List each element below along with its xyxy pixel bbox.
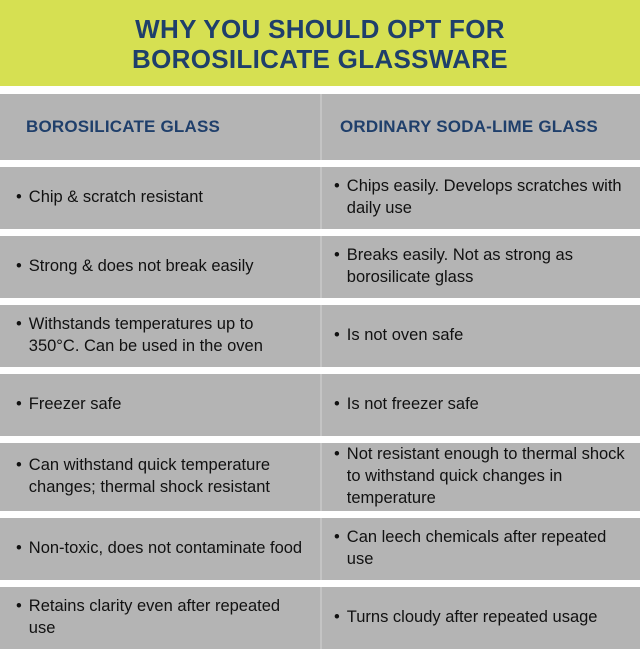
list-item-label: Turns cloudy after repeated usage [347,607,598,629]
table-cell-left: • Freezer safe [0,374,320,436]
bullet-icon: • [16,455,22,477]
list-item-label: Withstands temperatures up to 350°C. Can… [29,314,308,358]
bullet-icon: • [16,394,22,416]
list-item-label: Can withstand quick temperature changes;… [29,455,308,499]
bullet-icon: • [334,176,340,198]
bullet-icon: • [334,444,340,466]
table-row: • Withstands temperatures up to 350°C. C… [0,305,640,367]
table-cell-right: • Breaks easily. Not as strong as borosi… [320,236,640,298]
list-item: • Retains clarity even after repeated us… [16,596,308,640]
bullet-icon: • [16,187,22,209]
title-banner: WHY YOU SHOULD OPT FOR BOROSILICATE GLAS… [0,0,640,86]
table-cell-left: • Withstands temperatures up to 350°C. C… [0,305,320,367]
comparison-table: BOROSILICATE GLASS ORDINARY SODA-LIME GL… [0,94,640,649]
list-item-label: Is not freezer safe [347,394,479,416]
table-cell-right: • Not resistant enough to thermal shock … [320,443,640,511]
table-cell-left: • Chip & scratch resistant [0,167,320,229]
list-item: • Freezer safe [16,394,121,416]
list-item: • Is not freezer safe [334,394,479,416]
list-item-label: Not resistant enough to thermal shock to… [347,444,630,510]
list-item: • Chip & scratch resistant [16,187,203,209]
table-cell-right: • Is not freezer safe [320,374,640,436]
list-item-label: Strong & does not break easily [29,256,254,278]
list-item: • Can withstand quick temperature change… [16,455,308,499]
bullet-icon: • [16,256,22,278]
list-item-label: Is not oven safe [347,325,464,347]
table-cell-right: • Can leech chemicals after repeated use [320,518,640,580]
list-item-label: Retains clarity even after repeated use [29,596,308,640]
page-title-line-1: WHY YOU SHOULD OPT FOR [135,14,505,44]
list-item: • Turns cloudy after repeated usage [334,607,598,629]
list-item-label: Chips easily. Develops scratches with da… [347,176,630,220]
bullet-icon: • [334,527,340,549]
list-item: • Chips easily. Develops scratches with … [334,176,630,220]
bullet-icon: • [16,314,22,336]
page-title-line-2: BOROSILICATE GLASSWARE [132,44,508,74]
bullet-icon: • [334,607,340,629]
list-item-label: Non-toxic, does not contaminate food [29,538,302,560]
table-cell-right: • Is not oven safe [320,305,640,367]
table-cell-left: • Can withstand quick temperature change… [0,443,320,511]
bullet-icon: • [334,245,340,267]
infographic-root: WHY YOU SHOULD OPT FOR BOROSILICATE GLAS… [0,0,640,640]
list-item-label: Freezer safe [29,394,122,416]
table-row: • Chip & scratch resistant • Chips easil… [0,167,640,229]
bullet-icon: • [16,596,22,618]
list-item-label: Chip & scratch resistant [29,187,203,209]
column-header-borosilicate: BOROSILICATE GLASS [26,117,220,137]
table-row: • Can withstand quick temperature change… [0,443,640,511]
list-item: • Is not oven safe [334,325,463,347]
table-cell-left: • Non-toxic, does not contaminate food [0,518,320,580]
bullet-icon: • [334,394,340,416]
table-row: • Non-toxic, does not contaminate food •… [0,518,640,580]
table-row: • Strong & does not break easily • Break… [0,236,640,298]
list-item-label: Can leech chemicals after repeated use [347,527,630,571]
list-item: • Not resistant enough to thermal shock … [334,444,630,510]
column-header-soda-lime: ORDINARY SODA-LIME GLASS [340,117,598,137]
list-item: • Withstands temperatures up to 350°C. C… [16,314,308,358]
bullet-icon: • [16,538,22,560]
table-header-cell-right: ORDINARY SODA-LIME GLASS [320,94,640,160]
list-item: • Breaks easily. Not as strong as borosi… [334,245,630,289]
list-item: • Strong & does not break easily [16,256,254,278]
table-header-row: BOROSILICATE GLASS ORDINARY SODA-LIME GL… [0,94,640,160]
list-item-label: Breaks easily. Not as strong as borosili… [347,245,630,289]
bullet-icon: • [334,325,340,347]
list-item: • Non-toxic, does not contaminate food [16,538,302,560]
table-cell-left: • Strong & does not break easily [0,236,320,298]
table-header-cell-left: BOROSILICATE GLASS [0,94,320,160]
list-item: • Can leech chemicals after repeated use [334,527,630,571]
table-row: • Freezer safe • Is not freezer safe [0,374,640,436]
table-cell-right: • Chips easily. Develops scratches with … [320,167,640,229]
